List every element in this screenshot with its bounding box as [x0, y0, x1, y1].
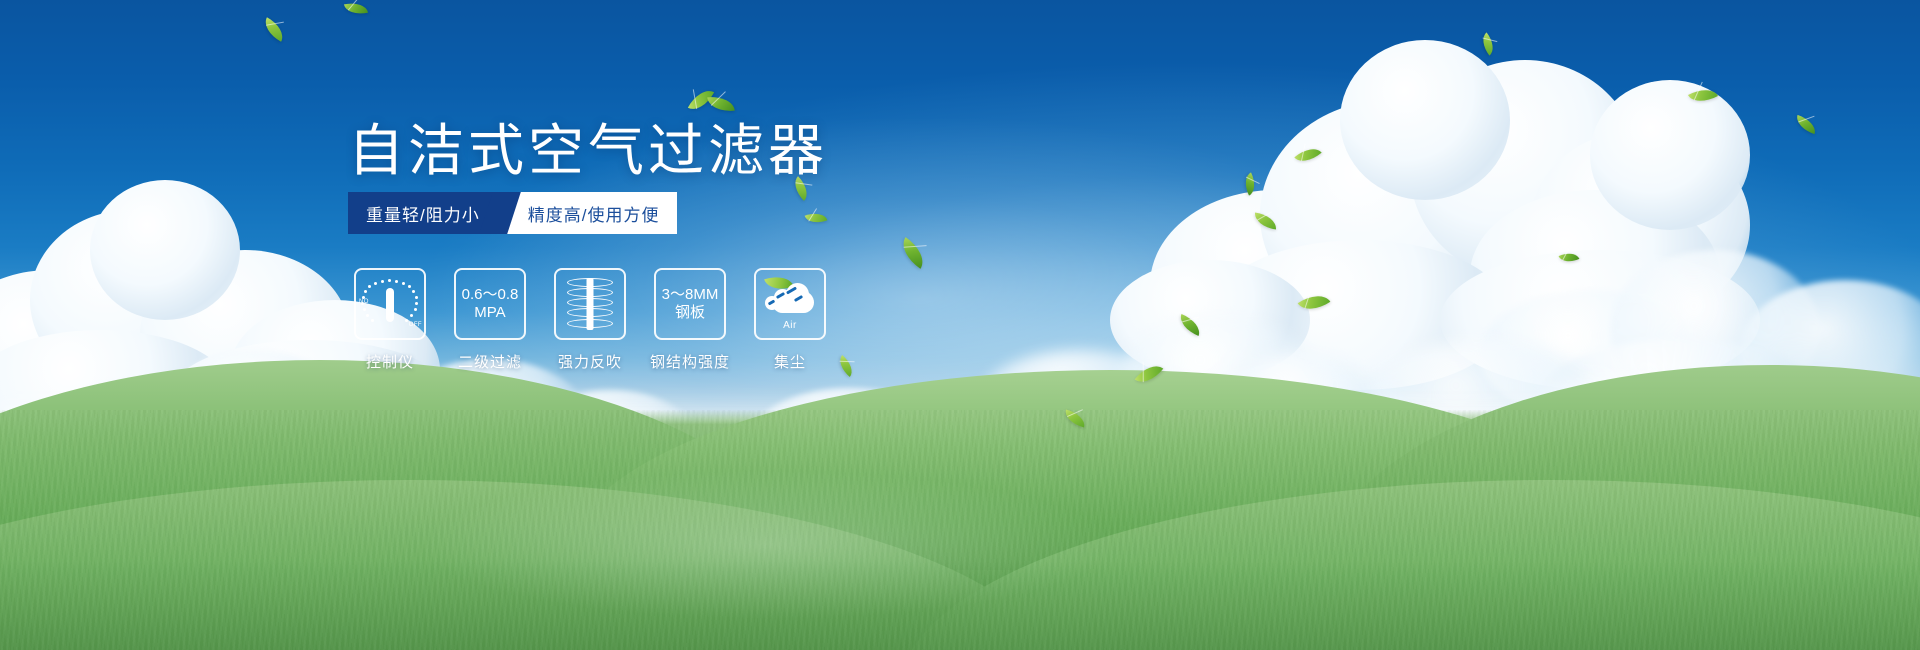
feature-icon-box: Air: [754, 268, 826, 340]
gauge-label-off: OFF: [409, 322, 422, 328]
air-label: Air: [762, 320, 818, 331]
gauge-label-no: NO: [359, 299, 369, 305]
feature-item-controller[interactable]: NO OFF 控制仪: [354, 268, 426, 372]
coil-blowback-icon: [567, 278, 613, 330]
gauge-needle: [386, 288, 394, 322]
feature-caption: 集尘: [774, 351, 806, 372]
feature-icon-box: NO OFF: [354, 268, 426, 340]
feature-icon-box: 3〜8MM 钢板: [654, 268, 726, 340]
feature-caption: 强力反吹: [558, 351, 622, 372]
feature-caption: 二级过滤: [458, 351, 522, 372]
gauge-icon: NO OFF: [362, 279, 418, 329]
page-title: 自洁式空气过滤器: [348, 120, 828, 182]
feature-item-dust[interactable]: Air 集尘: [754, 268, 826, 372]
feature-icon-box: [554, 268, 626, 340]
hero-banner: 自洁式空气过滤器 重量轻/阻力小 精度高/使用方便: [0, 0, 1920, 650]
badge-precision-convenience[interactable]: 精度高/使用方便: [502, 192, 678, 234]
pressure-value-line1: 0.6〜0.8: [462, 286, 519, 304]
badge-group: 重量轻/阻力小 精度高/使用方便: [348, 192, 677, 234]
badge-weight-resistance[interactable]: 重量轻/阻力小: [348, 192, 500, 234]
feature-caption: 控制仪: [366, 351, 414, 372]
feature-item-blowback[interactable]: 强力反吹: [554, 268, 626, 372]
feature-icon-box: 0.6〜0.8 MPA: [454, 268, 526, 340]
banner-content: 自洁式空气过滤器 重量轻/阻力小 精度高/使用方便: [0, 0, 1920, 650]
feature-item-pressure[interactable]: 0.6〜0.8 MPA 二级过滤: [454, 268, 526, 372]
air-cloud-icon: Air: [762, 281, 818, 327]
feature-list: NO OFF 控制仪 0.6〜0.8 MPA 二级过滤: [354, 268, 826, 372]
pressure-value-line2: MPA: [474, 304, 505, 322]
feature-item-steel[interactable]: 3〜8MM 钢板 钢结构强度: [654, 268, 726, 372]
feature-caption: 钢结构强度: [650, 351, 730, 372]
steel-value-line2: 钢板: [675, 304, 705, 322]
steel-value-line1: 3〜8MM: [662, 286, 719, 304]
